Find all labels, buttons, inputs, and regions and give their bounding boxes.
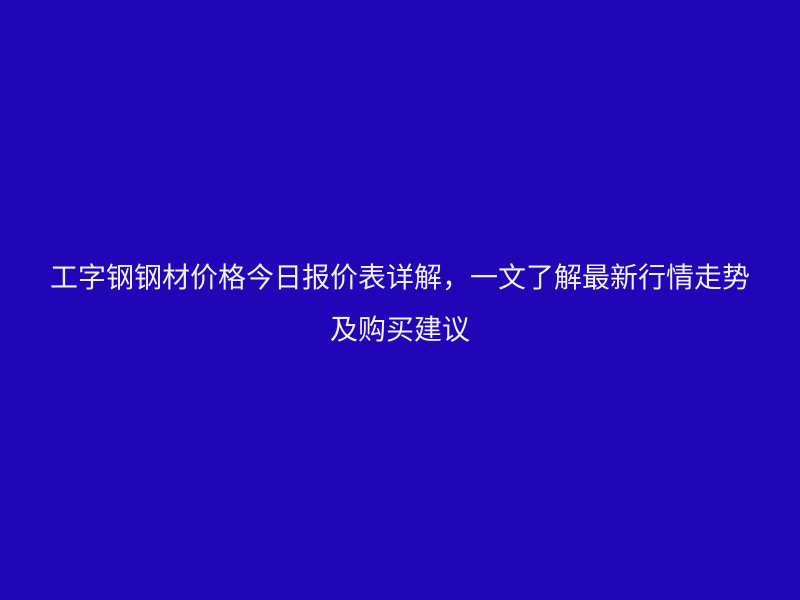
page-title: 工字钢钢材价格今日报价表详解，一文了解最新行情走势及购买建议 <box>0 252 800 356</box>
title-card: 工字钢钢材价格今日报价表详解，一文了解最新行情走势及购买建议 <box>0 0 800 600</box>
